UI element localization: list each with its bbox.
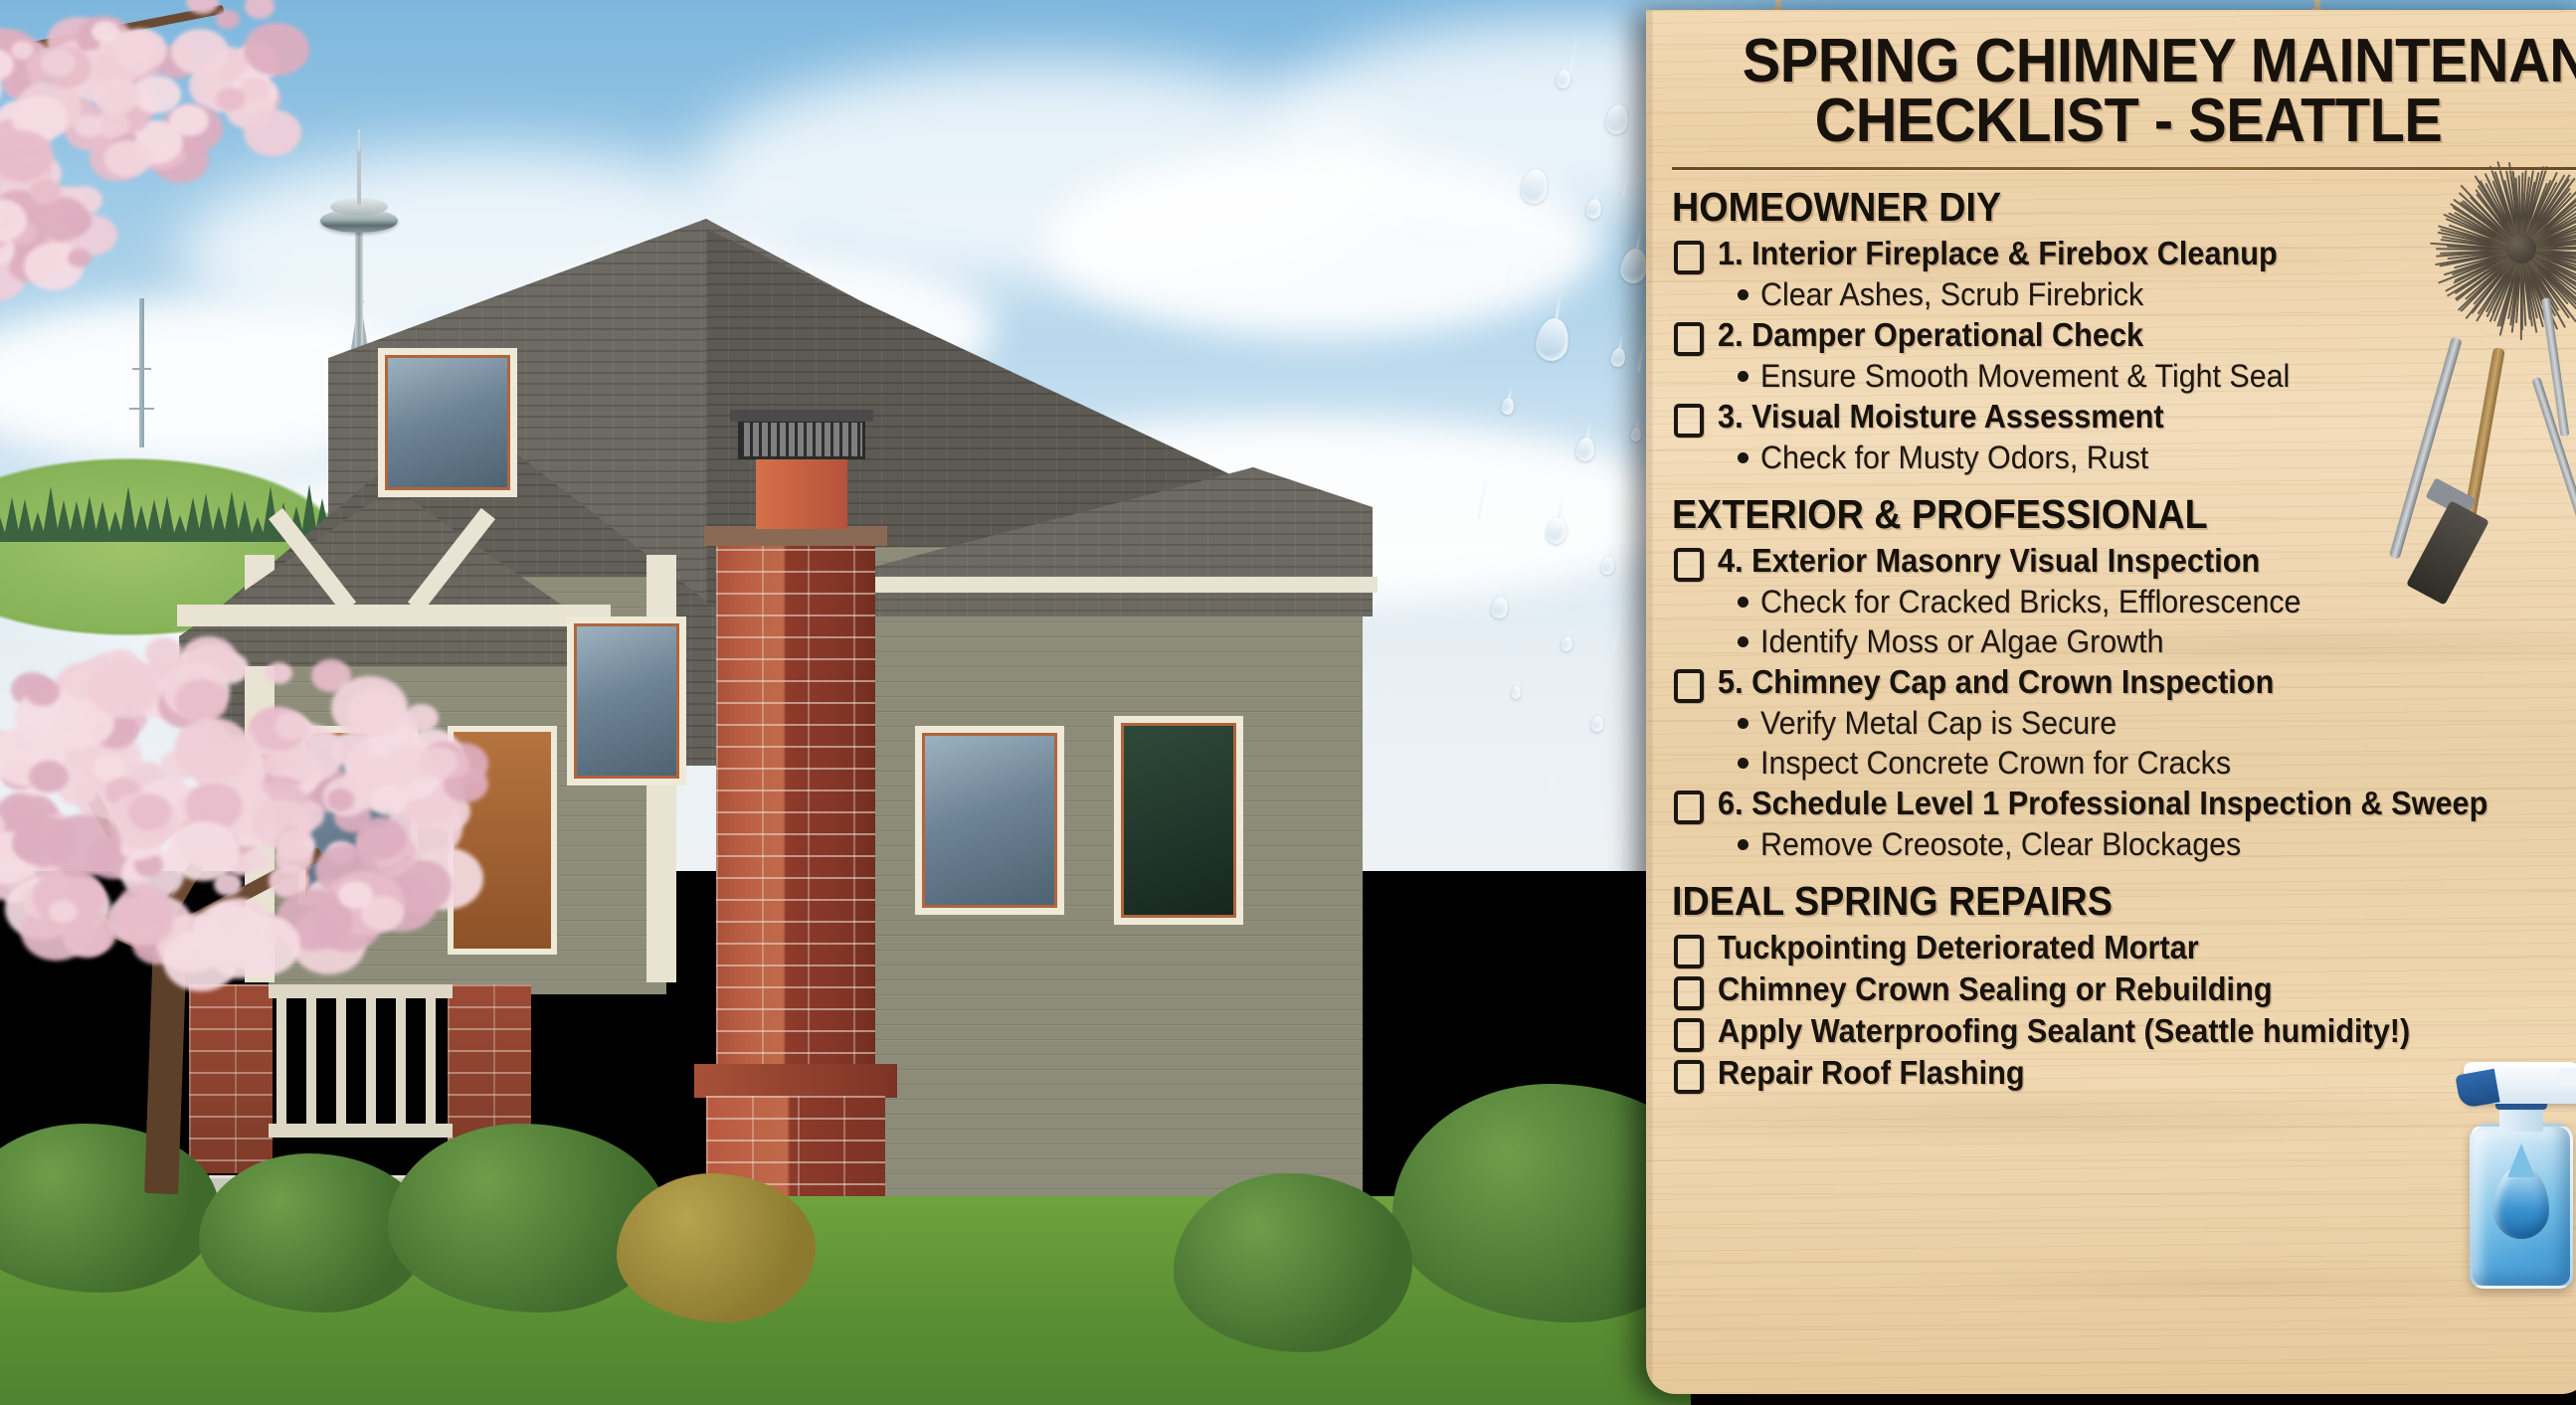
checkbox-icon[interactable] <box>1674 322 1704 356</box>
blossom-cluster <box>26 678 59 705</box>
blossom-cluster <box>327 789 355 811</box>
blossom-cluster <box>266 662 292 684</box>
blossom-cluster <box>347 688 405 736</box>
gable-window <box>567 616 686 786</box>
chimney-flue <box>756 457 847 529</box>
bullet-icon <box>1738 452 1748 463</box>
blossom-cluster <box>75 114 103 137</box>
checklist-item[interactable]: Repair Roof Flashing <box>1674 1053 2576 1094</box>
checklist-subitem-label: Inspect Concrete Crown for Cracks <box>1760 743 2231 783</box>
checklist-subitem: Ensure Smooth Movement & Tight Seal <box>1738 356 2576 396</box>
section-heading: IDEAL SPRING REPAIRS <box>1672 878 2517 924</box>
blossom-cluster <box>104 140 151 177</box>
checklist-item[interactable]: 2. Damper Operational Check <box>1674 315 2576 356</box>
blossom-cluster <box>244 848 270 869</box>
blossom-cluster <box>64 210 92 233</box>
sign-title-line-1: SPRING CHIMNEY MAINTENANCE <box>1743 32 2555 91</box>
bullet-icon <box>1738 597 1748 608</box>
checklist-body: HOMEOWNER DIY1. Interior Fireplace & Fir… <box>1672 184 2576 1094</box>
blossom-cluster <box>132 76 180 114</box>
blossom-cluster <box>13 815 76 867</box>
checklist-item-label: Repair Roof Flashing <box>1718 1053 2025 1093</box>
checklist-subitem: Remove Creosote, Clear Blockages <box>1738 824 2576 864</box>
checkbox-icon[interactable] <box>1674 976 1704 1010</box>
rain-drop <box>1584 198 1602 220</box>
checklist-subitem: Inspect Concrete Crown for Cracks <box>1738 743 2576 783</box>
title-divider <box>1672 167 2576 170</box>
rain-drop <box>1545 515 1568 545</box>
checklist-item[interactable]: 3. Visual Moisture Assessment <box>1674 397 2576 438</box>
checklist-item-label: 5. Chimney Cap and Crown Inspection <box>1718 662 2274 702</box>
checklist-subitem: Check for Cracked Bricks, Efflorescence <box>1738 582 2576 621</box>
checklist-subitem: Verify Metal Cap is Secure <box>1738 703 2576 743</box>
checklist-item-label: 3. Visual Moisture Assessment <box>1718 397 2164 437</box>
rain-drop <box>1600 556 1616 576</box>
rain-streak <box>1612 607 1624 652</box>
rain-drop <box>1574 437 1596 463</box>
chimney-cap-icon <box>738 420 865 459</box>
rain-drop <box>1511 685 1522 699</box>
checklist-item[interactable]: 6. Schedule Level 1 Professional Inspect… <box>1674 784 2576 824</box>
sign-title: SPRING CHIMNEY MAINTENANCE CHECKLIST - S… <box>1672 32 2576 151</box>
blossom-cluster <box>245 0 276 19</box>
rain-drop <box>1609 347 1626 368</box>
bullet-icon <box>1738 758 1748 769</box>
checklist-item-label: 1. Interior Fireplace & Firebox Cleanup <box>1718 234 2278 273</box>
checklist-item[interactable]: 1. Interior Fireplace & Firebox Cleanup <box>1674 234 2576 274</box>
radio-tower <box>139 298 144 447</box>
checklist-item-label: Chimney Crown Sealing or Rebuilding <box>1718 969 2273 1009</box>
checklist-subitem-label: Check for Cracked Bricks, Efflorescence <box>1760 582 2300 621</box>
blossom-cluster <box>175 679 228 723</box>
bullet-icon <box>1738 289 1748 300</box>
checklist-item-label: Tuckpointing Deteriorated Mortar <box>1718 928 2199 967</box>
checkbox-icon[interactable] <box>1674 241 1704 274</box>
blossom-cluster <box>41 49 76 77</box>
chimney-checklist-sign: SPRING CHIMNEY MAINTENANCE CHECKLIST - S… <box>1646 10 2576 1394</box>
checklist-subitem-label: Clear Ashes, Scrub Firebrick <box>1760 274 2143 314</box>
screenshot-root: SPRING CHIMNEY MAINTENANCE CHECKLIST - S… <box>0 0 2576 1405</box>
bullet-icon <box>1738 839 1748 850</box>
checklist-subitem: Identify Moss or Algae Growth <box>1738 621 2576 661</box>
blossom-cluster <box>244 109 301 156</box>
checklist-item-label: 4. Exterior Masonry Visual Inspection <box>1718 541 2260 581</box>
blossom-cluster <box>216 10 240 29</box>
rain-streak <box>1621 149 1633 197</box>
checkbox-icon[interactable] <box>1674 669 1704 703</box>
blossom-cluster <box>244 23 308 75</box>
section-heading: HOMEOWNER DIY <box>1672 184 2517 230</box>
checklist-item[interactable]: Apply Waterproofing Sealant (Seattle hum… <box>1674 1011 2576 1052</box>
blossom-cluster <box>192 903 264 962</box>
cherry-blossom-branch <box>0 0 298 268</box>
shrub <box>1174 1173 1412 1352</box>
checkbox-icon[interactable] <box>1674 548 1704 582</box>
side-window <box>915 726 1064 915</box>
checkbox-icon[interactable] <box>1674 1060 1704 1094</box>
checklist-item-label: Apply Waterproofing Sealant (Seattle hum… <box>1718 1011 2410 1051</box>
blossom-cluster <box>404 704 439 733</box>
rain-drop <box>1561 635 1573 652</box>
blossom-cluster <box>68 249 92 267</box>
checkbox-icon[interactable] <box>1674 1018 1704 1052</box>
checklist-subitem-label: Remove Creosote, Clear Blockages <box>1760 824 2241 864</box>
cherry-blossom-tree <box>0 616 537 1173</box>
chimney-crown <box>704 526 887 546</box>
checklist-subitem-label: Check for Musty Odors, Rust <box>1760 438 2148 477</box>
rain-streak <box>1548 756 1559 795</box>
checkbox-icon[interactable] <box>1674 935 1704 968</box>
side-window <box>1114 716 1243 925</box>
rain-drop <box>1519 167 1551 206</box>
sign-title-line-2: CHECKLIST - SEATTLE <box>1704 91 2553 151</box>
checklist-item[interactable]: Chimney Crown Sealing or Rebuilding <box>1674 969 2576 1010</box>
rain-drop <box>1590 715 1605 733</box>
bullet-icon <box>1738 718 1748 729</box>
checklist-subitem: Clear Ashes, Scrub Firebrick <box>1738 274 2576 314</box>
checklist-item-label: 6. Schedule Level 1 Professional Inspect… <box>1718 784 2487 823</box>
checklist-item[interactable]: Tuckpointing Deteriorated Mortar <box>1674 928 2576 968</box>
chimney-cap-lid <box>730 410 873 422</box>
checklist-item-label: 2. Damper Operational Check <box>1718 315 2143 355</box>
blossom-cluster <box>30 179 61 204</box>
checkbox-icon[interactable] <box>1674 790 1704 824</box>
rain-drop <box>1490 596 1510 619</box>
blossom-cluster <box>356 817 407 859</box>
section-heading: EXTERIOR & PROFESSIONAL <box>1672 491 2517 537</box>
rain-drop <box>1501 397 1516 416</box>
rain-streak <box>1477 467 1490 519</box>
checklist-item[interactable]: 5. Chimney Cap and Crown Inspection <box>1674 662 2576 703</box>
checklist-subitem-label: Identify Moss or Algae Growth <box>1760 621 2164 661</box>
blossom-cluster <box>174 718 251 781</box>
blossom-cluster <box>89 659 160 718</box>
blossom-cluster <box>92 21 119 43</box>
checklist-subitem: Check for Musty Odors, Rust <box>1738 438 2576 477</box>
blossom-cluster <box>419 746 459 778</box>
checkbox-icon[interactable] <box>1674 404 1704 438</box>
rain-drop <box>1534 316 1572 364</box>
blossom-cluster <box>93 78 140 114</box>
checklist-subitem-label: Verify Metal Cap is Secure <box>1760 703 2116 743</box>
rain-drop <box>1604 102 1631 135</box>
blossom-cluster <box>338 881 372 909</box>
blossom-cluster <box>114 29 167 71</box>
blossom-cluster <box>167 821 240 881</box>
shrub <box>617 1173 816 1322</box>
checklist-subitem-label: Ensure Smooth Movement & Tight Seal <box>1760 356 2290 396</box>
bullet-icon <box>1738 636 1748 647</box>
rain-streak <box>1501 249 1515 307</box>
blossom-cluster <box>275 712 308 740</box>
blossom-cluster <box>264 752 294 777</box>
blossom-cluster <box>275 841 314 873</box>
checklist-item[interactable]: 4. Exterior Masonry Visual Inspection <box>1674 541 2576 582</box>
rain-drop <box>1630 427 1642 442</box>
bullet-icon <box>1738 371 1748 382</box>
